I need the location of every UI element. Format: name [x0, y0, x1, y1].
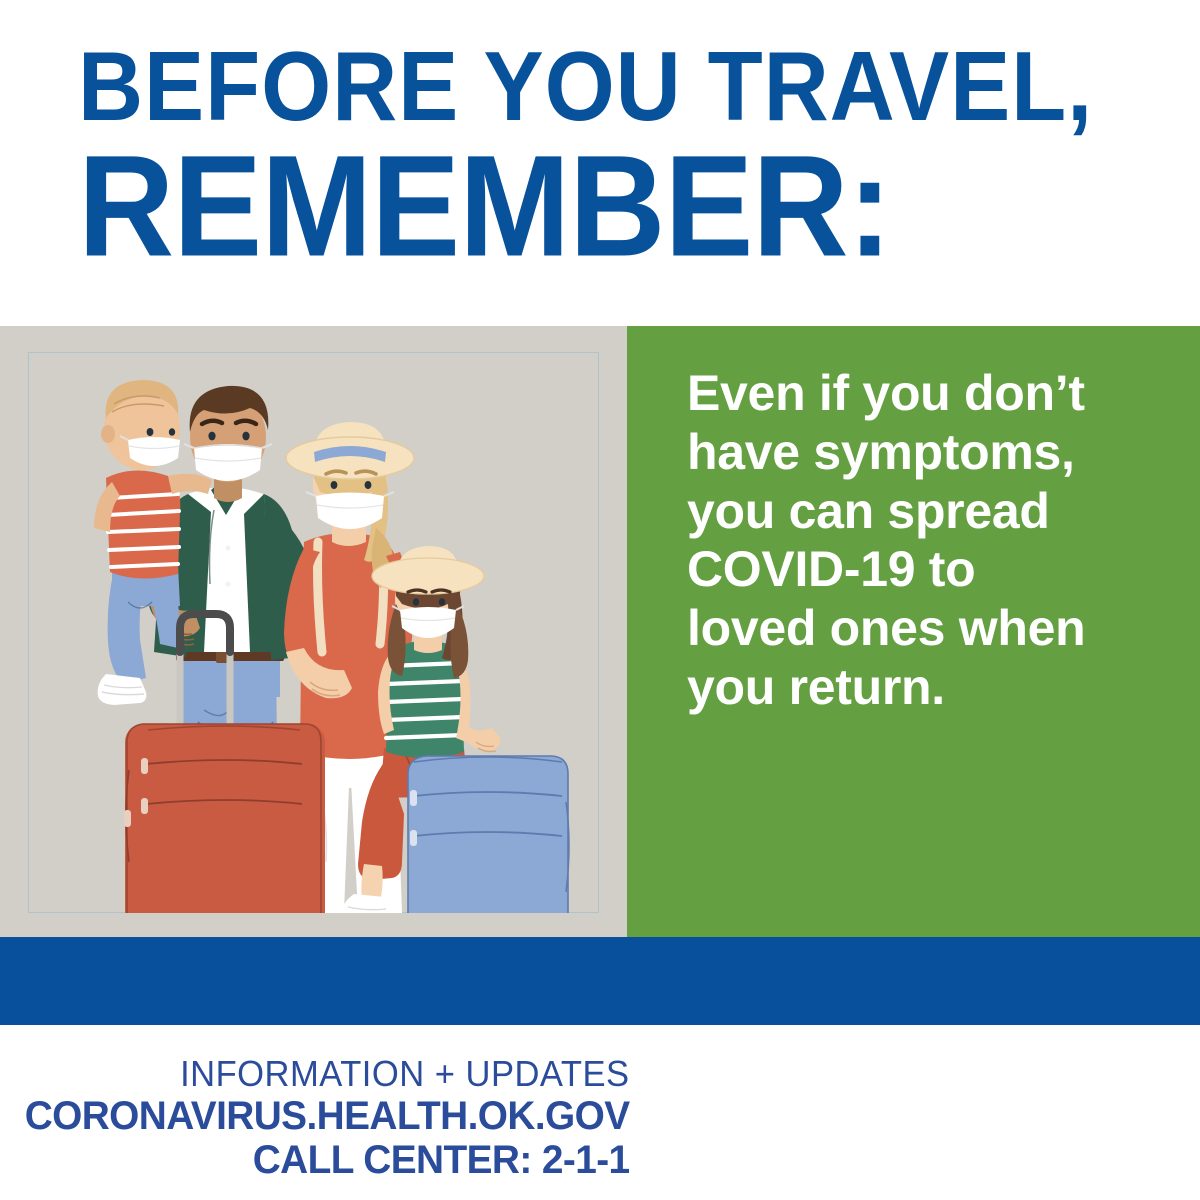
message-line: loved ones when — [687, 599, 1177, 658]
footer-contact-block: INFORMATION + UPDATES CORONAVIRUS.HEALTH… — [6, 1055, 630, 1182]
illustration-panel — [0, 326, 627, 937]
call-center-number[interactable]: CALL CENTER: 2-1-1 — [25, 1138, 630, 1182]
message-line: you can spread — [687, 482, 1177, 541]
blue-divider-bar — [0, 937, 1200, 1025]
headline-line-2: REMEMBER: — [78, 140, 1117, 273]
body-row: Even if you don’t have symptoms, you can… — [0, 326, 1200, 937]
message-line: you return. — [687, 658, 1177, 717]
message-line: have symptoms, — [687, 423, 1177, 482]
message-panel: Even if you don’t have symptoms, you can… — [627, 326, 1200, 937]
headline-line-1: BEFORE YOU TRAVEL, — [78, 38, 1053, 134]
poster-canvas: BEFORE YOU TRAVEL, REMEMBER: — [0, 0, 1200, 1200]
footer: INFORMATION + UPDATES CORONAVIRUS.HEALTH… — [0, 1025, 1200, 1200]
information-updates-label: INFORMATION + UPDATES — [31, 1055, 630, 1094]
headline-block: BEFORE YOU TRAVEL, REMEMBER: — [78, 38, 1138, 265]
message-line: COVID-19 to — [687, 540, 1177, 599]
message-line: Even if you don’t — [687, 364, 1177, 423]
message-text: Even if you don’t have symptoms, you can… — [687, 364, 1177, 717]
website-url[interactable]: CORONAVIRUS.HEALTH.OK.GOV — [25, 1094, 630, 1138]
family-travel-illustration — [28, 352, 599, 913]
